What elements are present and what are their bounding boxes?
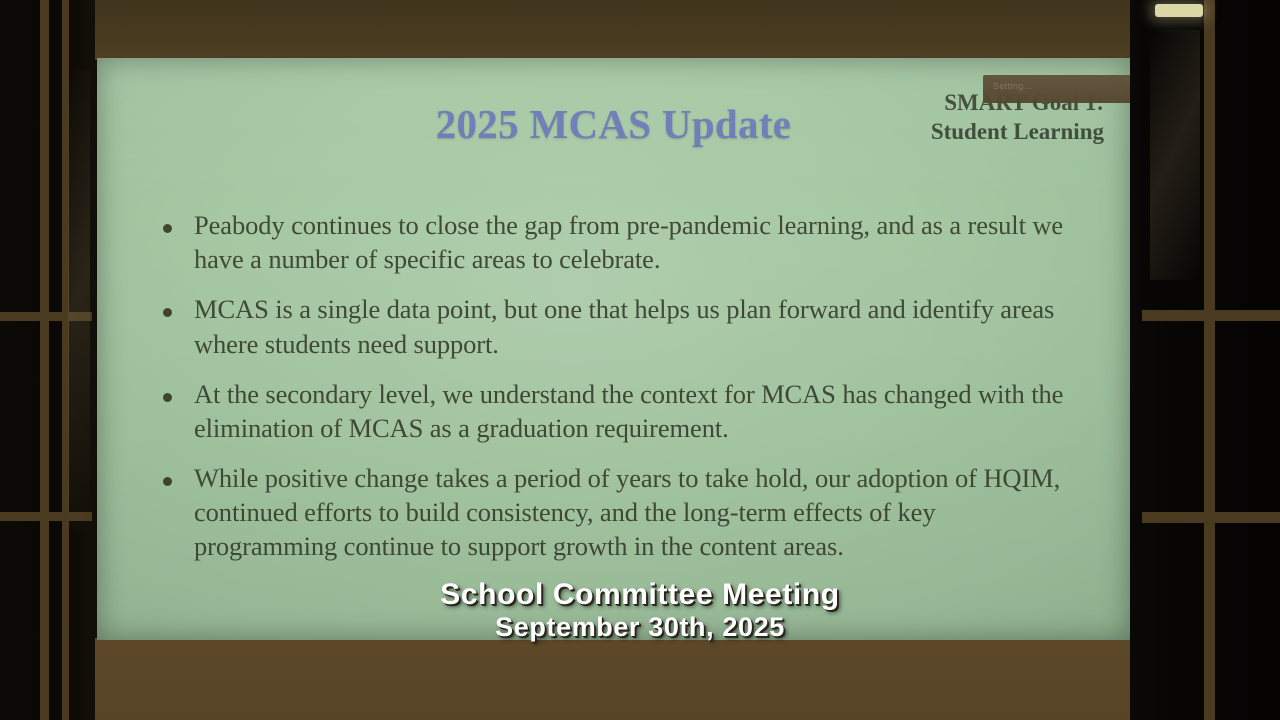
list-item: Peabody continues to close the gap from … xyxy=(155,208,1085,276)
bullet-text: MCAS is a single data point, but one tha… xyxy=(194,292,1085,360)
bullet-text: While positive change takes a period of … xyxy=(194,461,1085,564)
bullet-dot-icon xyxy=(163,308,172,317)
broadcast-caption: School Committee Meeting September 30th,… xyxy=(0,578,1280,643)
smart-goal-line-2: Student Learning xyxy=(774,117,1104,146)
list-item: While positive change takes a period of … xyxy=(155,461,1085,564)
bullet-dot-icon xyxy=(163,477,172,486)
bullet-text: Peabody continues to close the gap from … xyxy=(194,208,1085,276)
video-frame: 2025 MCAS Update SMART Goal 1: Student L… xyxy=(0,0,1280,720)
window-glass-sheen-right xyxy=(1150,30,1200,280)
wall-above-screen xyxy=(95,0,1140,60)
bullet-dot-icon xyxy=(163,393,172,402)
bullet-text: At the secondary level, we understand th… xyxy=(194,377,1085,445)
ceiling-light-reflection xyxy=(1155,4,1203,17)
bullet-dot-icon xyxy=(163,224,172,233)
list-item: MCAS is a single data point, but one tha… xyxy=(155,292,1085,360)
wall-below-screen xyxy=(95,638,1140,720)
caption-line-1: School Committee Meeting xyxy=(0,578,1280,612)
window-glass-sheen-left xyxy=(68,70,90,530)
slide-bullet-list: Peabody continues to close the gap from … xyxy=(155,208,1085,580)
window-rail-horizontal-right-upper xyxy=(1142,310,1280,321)
list-item: At the secondary level, we understand th… xyxy=(155,377,1085,445)
projection-screen: 2025 MCAS Update SMART Goal 1: Student L… xyxy=(97,58,1130,640)
caption-line-2: September 30th, 2025 xyxy=(0,612,1280,643)
window-rail-horizontal-right-lower xyxy=(1142,512,1280,523)
presenter-overlay-chip-label: Setting... xyxy=(993,81,1033,91)
presenter-overlay-chip[interactable]: Setting... xyxy=(983,75,1130,103)
